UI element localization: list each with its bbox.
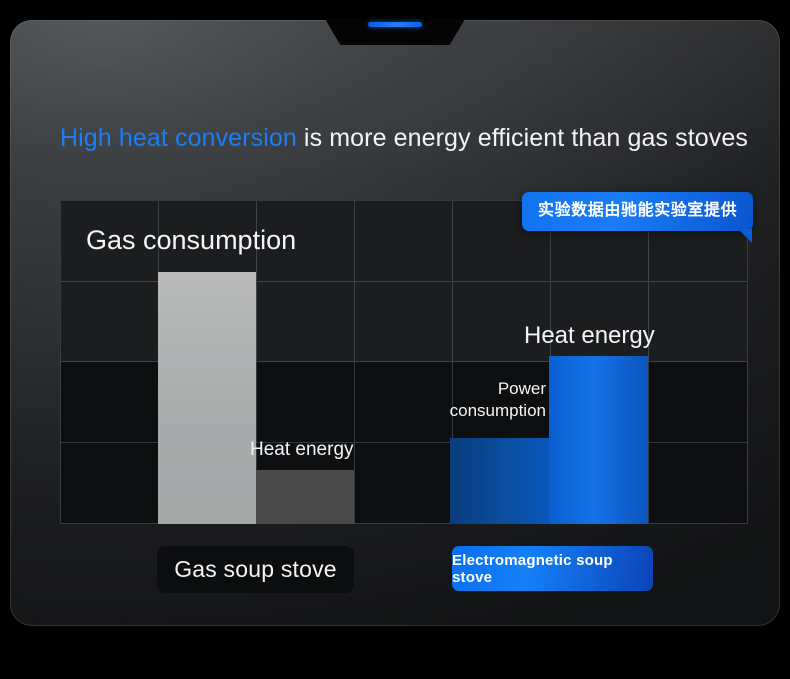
headline-accent-text: High heat conversion xyxy=(60,124,297,152)
comparison-bar-chart: Gas consumption Heat energy Power consum… xyxy=(60,200,748,524)
data-source-tooltip-text: 实验数据由驰能实验室提供 xyxy=(522,192,753,231)
label-electric-power-consumption: Power consumption xyxy=(394,378,546,422)
bar-electric-heat-energy xyxy=(549,356,648,524)
tooltip-tail-icon xyxy=(738,229,752,243)
bar-electric-power-consumption xyxy=(450,438,549,524)
device-card: High heat conversion is more energy effi… xyxy=(10,20,780,626)
data-source-tooltip: 实验数据由驰能实验室提供 xyxy=(522,192,753,231)
device-notch xyxy=(325,19,465,45)
speaker-bar-icon xyxy=(368,22,422,27)
label-gas-heat-energy: Heat energy xyxy=(250,439,354,461)
page-title: High heat conversion is more energy effi… xyxy=(60,122,748,154)
label-electric-heat-energy: Heat energy xyxy=(524,322,655,350)
legend-gas-label: Gas soup stove xyxy=(174,556,337,583)
bar-gas-heat-energy xyxy=(256,470,354,524)
label-gas-consumption: Gas consumption xyxy=(86,224,296,256)
legend-gas-soup-stove[interactable]: Gas soup stove xyxy=(157,546,354,593)
legend-electromagnetic-soup-stove[interactable]: Electromagnetic soup stove xyxy=(452,546,653,591)
screenshot-stage: High heat conversion is more energy effi… xyxy=(0,0,790,679)
headline-rest-text: is more energy efficient than gas stoves xyxy=(297,124,748,152)
legend-electric-label: Electromagnetic soup stove xyxy=(452,552,653,586)
bar-gas-consumption xyxy=(158,272,256,524)
